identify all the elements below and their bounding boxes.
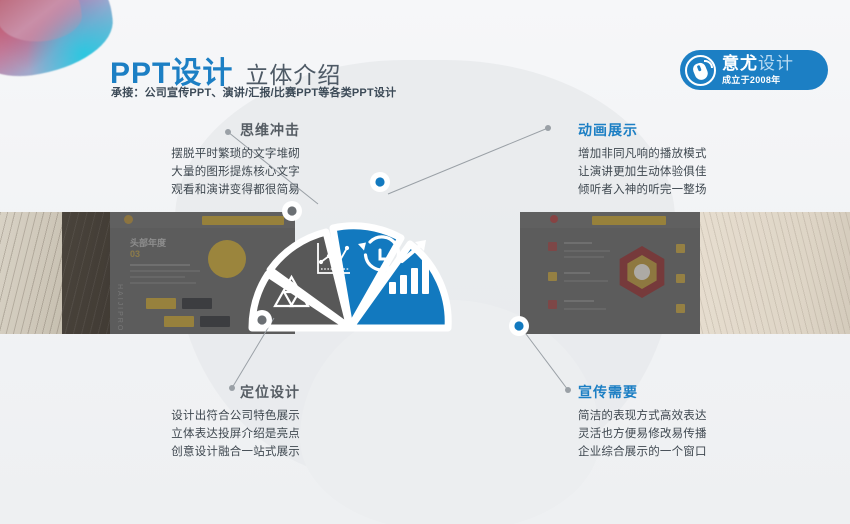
thumbnail-logo-dot xyxy=(550,215,558,223)
band-wood-texture-left xyxy=(0,212,62,334)
callout-line: 观看和演讲变得都很简易 xyxy=(80,181,300,199)
mouse-icon xyxy=(685,55,716,86)
thumbnail-accent-circle xyxy=(208,240,246,278)
thumbnail-text-line xyxy=(130,264,190,266)
thumbnail-item-icon xyxy=(676,304,685,313)
slide-canvas: 头部年度 03 HAIJIPRO xyxy=(0,0,850,524)
header-description: 承接：公司宣传PPT、演讲/汇报/比赛PPT等各类PPT设计 xyxy=(111,84,396,100)
callout-line: 倾听者入神的听完一整场 xyxy=(578,181,808,199)
thumbnail-text-line xyxy=(130,270,200,272)
callout-line: 灵活也方便易修改易传播 xyxy=(578,425,808,443)
callout-line: 企业综合展示的一个窗口 xyxy=(578,443,808,461)
logo-established: 成立于2008年 xyxy=(722,76,794,85)
callout-think: 思维冲击 摆脱平时繁琐的文字堆砌 大量的图形提炼核心文字 观看和演讲变得都很简易 xyxy=(80,120,300,199)
thumbnail-text-line xyxy=(564,300,594,302)
callout-title: 定位设计 xyxy=(75,382,300,402)
logo-name-bold: 意尤 xyxy=(722,54,758,73)
callout-locate: 定位设计 设计出符合公司特色展示 立体表达投屏介绍是亮点 创意设计融合一站式展示 xyxy=(75,382,300,461)
thumbnail-item-icon xyxy=(676,274,685,283)
callout-title: 宣传需要 xyxy=(578,382,808,402)
brand-logo[interactable]: 意尤设计 成立于2008年 xyxy=(680,50,828,90)
thumbnail-button xyxy=(164,316,194,327)
thumbnail-text-line xyxy=(130,276,185,278)
thumbnail-text-line xyxy=(564,256,604,258)
callout-line: 立体表达投屏介绍是亮点 xyxy=(75,425,300,443)
callout-line: 创意设计融合一站式展示 xyxy=(75,443,300,461)
header: PPT设计 立体介绍 承接：公司宣传PPT、演讲/汇报/比赛PPT等各类PPT设… xyxy=(0,0,850,112)
callout-title: 动画展示 xyxy=(578,120,808,140)
logo-name-light: 设计 xyxy=(758,54,794,73)
callout-line: 设计出符合公司特色展示 xyxy=(75,407,300,425)
thumbnail-button xyxy=(146,298,176,309)
callout-line: 大量的图形提炼核心文字 xyxy=(80,163,300,181)
thumbnail-number: 03 xyxy=(130,249,140,259)
thumbnail-hexagon-core xyxy=(634,264,650,280)
thumbnail-button xyxy=(200,316,230,327)
thumbnail-text-line xyxy=(564,250,610,252)
thumbnail-hexagon-outer xyxy=(616,246,668,298)
callout-line: 增加非同凡响的播放模式 xyxy=(578,145,808,163)
callout-line: 摆脱平时繁琐的文字堆砌 xyxy=(80,145,300,163)
thumbnail-text-line xyxy=(130,282,196,284)
callout-line: 简洁的表现方式高效表达 xyxy=(578,407,808,425)
thumbnail-logo-dot xyxy=(124,215,133,224)
thumbnail-text-line xyxy=(564,308,606,310)
thumbnail-text-line xyxy=(564,272,590,274)
thumbnail-hexagon-inner xyxy=(625,255,659,289)
band-dark-panel-left xyxy=(62,212,110,334)
thumbnail-header-pill xyxy=(592,216,666,225)
thumbnail-text-line xyxy=(564,242,592,244)
logo-name: 意尤设计 xyxy=(722,55,794,72)
thumbnail-title: 头部年度 xyxy=(130,236,166,249)
callout-promo: 宣传需要 简洁的表现方式高效表达 灵活也方便易修改易传播 企业综合展示的一个窗口 xyxy=(578,382,808,461)
thumbnail-text-line xyxy=(564,280,608,282)
band-wood-texture-right xyxy=(690,212,850,334)
callout-anim: 动画展示 增加非同凡响的播放模式 让演讲更加生动体验俱佳 倾听者入神的听完一整场 xyxy=(578,120,808,199)
thumbnail-side-text: HAIJIPRO xyxy=(116,284,123,332)
logo-text: 意尤设计 成立于2008年 xyxy=(722,55,794,85)
thumbnail-item-icon xyxy=(676,244,685,253)
thumbnail-button xyxy=(182,298,212,309)
callout-line: 让演讲更加生动体验俱佳 xyxy=(578,163,808,181)
callout-title: 思维冲击 xyxy=(80,120,300,140)
